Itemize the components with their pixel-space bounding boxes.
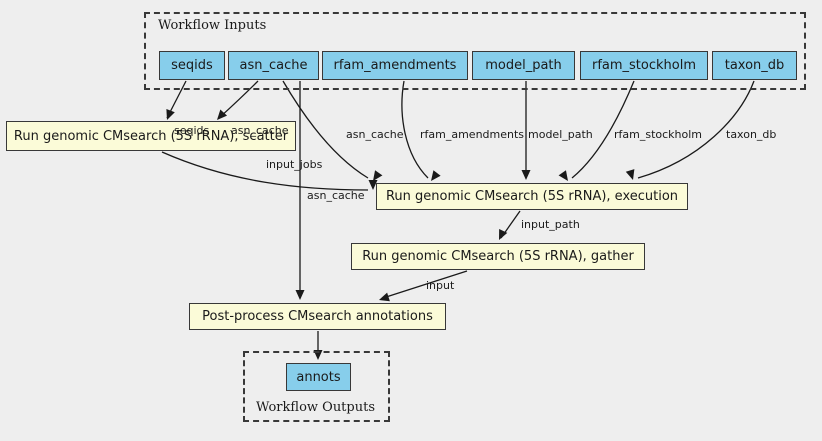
- node-label: asn_cache: [240, 59, 308, 72]
- edge-label-e-scatter-execution: input_jobs: [266, 158, 322, 171]
- node-model_path[interactable]: model_path: [472, 51, 575, 80]
- edge-label-e-taxon_db-execution: taxon_db: [726, 128, 776, 141]
- node-label: annots: [296, 371, 340, 384]
- node-postprocess[interactable]: Post-process CMsearch annotations: [189, 303, 446, 330]
- edge-label-e-asncache-postprocess: asn_cache: [307, 189, 365, 202]
- node-gather[interactable]: Run genomic CMsearch (5S rRNA), gather: [351, 243, 645, 270]
- workflow-diagram-canvas: Workflow InputsWorkflow Outputs seqidsas…: [0, 0, 822, 441]
- node-annots[interactable]: annots: [286, 363, 351, 391]
- edge-e-gather-postprocess: [383, 271, 467, 298]
- edge-e-execution-gather: [501, 211, 520, 238]
- edge-label-e-model_path-execution: model_path: [528, 128, 593, 141]
- node-execution[interactable]: Run genomic CMsearch (5S rRNA), executio…: [376, 183, 688, 210]
- node-label: model_path: [485, 59, 562, 72]
- node-label: Run genomic CMsearch (5S rRNA), gather: [362, 250, 634, 263]
- node-rfam_amendments[interactable]: rfam_amendments: [322, 51, 468, 80]
- edge-label-e-asncache-execution: asn_cache: [346, 128, 404, 141]
- group-title-outputs: Workflow Outputs: [256, 400, 375, 415]
- edge-label-e-execution-gather: input_path: [521, 218, 580, 231]
- node-label: taxon_db: [725, 59, 785, 72]
- node-label: rfam_amendments: [334, 59, 457, 72]
- node-label: Post-process CMsearch annotations: [202, 310, 433, 323]
- group-title-inputs: Workflow Inputs: [158, 18, 266, 33]
- node-asn_cache[interactable]: asn_cache: [228, 51, 319, 80]
- arrowhead-e-taxon_db-execution: [626, 169, 638, 181]
- arrowhead-e-model_path-execution: [522, 170, 531, 180]
- arrowhead-e-seqids-scatter: [163, 109, 175, 122]
- edge-label-e-seqids-scatter: seqids: [174, 124, 209, 137]
- node-label: rfam_stockholm: [592, 59, 696, 72]
- edge-label-e-gather-postprocess: input: [426, 279, 454, 292]
- edge-e-scatter-execution: [162, 152, 368, 190]
- arrowhead-e-asncache-postprocess: [296, 290, 305, 300]
- arrowhead-e-rfam_stockholm-execution: [559, 170, 572, 183]
- edge-label-e-rfam_amendments-execution: rfam_amendments: [420, 128, 524, 141]
- edge-label-e-rfam_stockholm-execution: rfam_stockholm: [614, 128, 702, 141]
- node-taxon_db[interactable]: taxon_db: [712, 51, 797, 80]
- node-label: Run genomic CMsearch (5S rRNA), executio…: [386, 190, 678, 203]
- arrowhead-e-asncache-execution: [369, 170, 382, 183]
- node-rfam_stockholm[interactable]: rfam_stockholm: [580, 51, 708, 80]
- node-label: seqids: [171, 59, 213, 72]
- arrowhead-e-rfam_amendments-execution: [427, 170, 440, 183]
- edge-label-e-asncache-scatter: asn_cache: [231, 124, 289, 137]
- node-seqids[interactable]: seqids: [159, 51, 225, 80]
- arrowhead-e-execution-gather: [495, 229, 507, 242]
